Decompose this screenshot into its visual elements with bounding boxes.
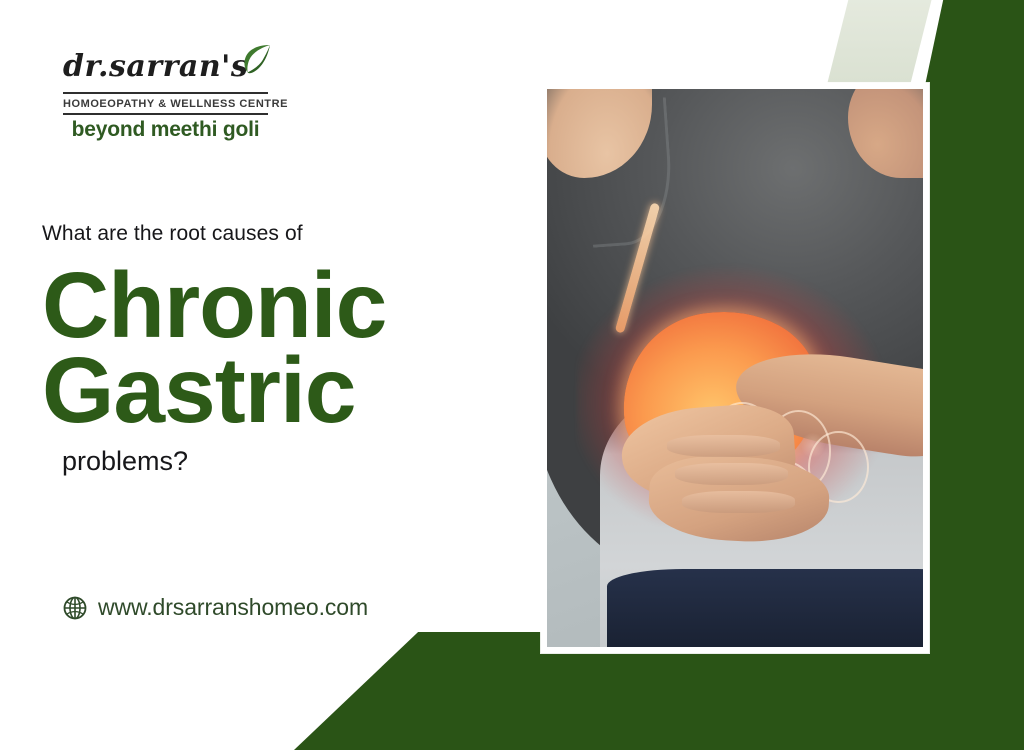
- headline-block: What are the root causes of Chronic Gast…: [42, 222, 512, 477]
- hero-photo-frame: [541, 83, 929, 653]
- leaf-icon: [240, 42, 274, 76]
- photo-finger: [675, 463, 788, 485]
- logo-script-name: dr.sarran's: [63, 44, 268, 90]
- headline-line-2: Gastric: [42, 345, 512, 436]
- logo-subtitle: HOMOEOPATHY & WELLNESS CENTRE: [63, 94, 268, 113]
- photo-finger: [682, 491, 795, 513]
- website-url-row[interactable]: www.drsarranshomeo.com: [62, 594, 368, 621]
- photo-finger: [667, 435, 780, 457]
- poster-canvas: dr.sarran's HOMOEOPATHY & WELLNESS CENTR…: [0, 0, 1024, 750]
- headline-kicker: What are the root causes of: [42, 222, 512, 246]
- logo-script-row: dr.sarran's: [63, 44, 268, 92]
- website-url-text[interactable]: www.drsarranshomeo.com: [98, 594, 368, 621]
- photo-navy-trousers: [607, 569, 923, 647]
- logo-tagline: beyond meethi goli: [63, 115, 268, 142]
- abdominal-pain-photo: [547, 89, 923, 647]
- headline-closer: problems?: [62, 446, 512, 477]
- globe-icon: [62, 595, 88, 621]
- decor-green-column-right: [928, 184, 1024, 634]
- brand-logo: dr.sarran's HOMOEOPATHY & WELLNESS CENTR…: [63, 44, 268, 142]
